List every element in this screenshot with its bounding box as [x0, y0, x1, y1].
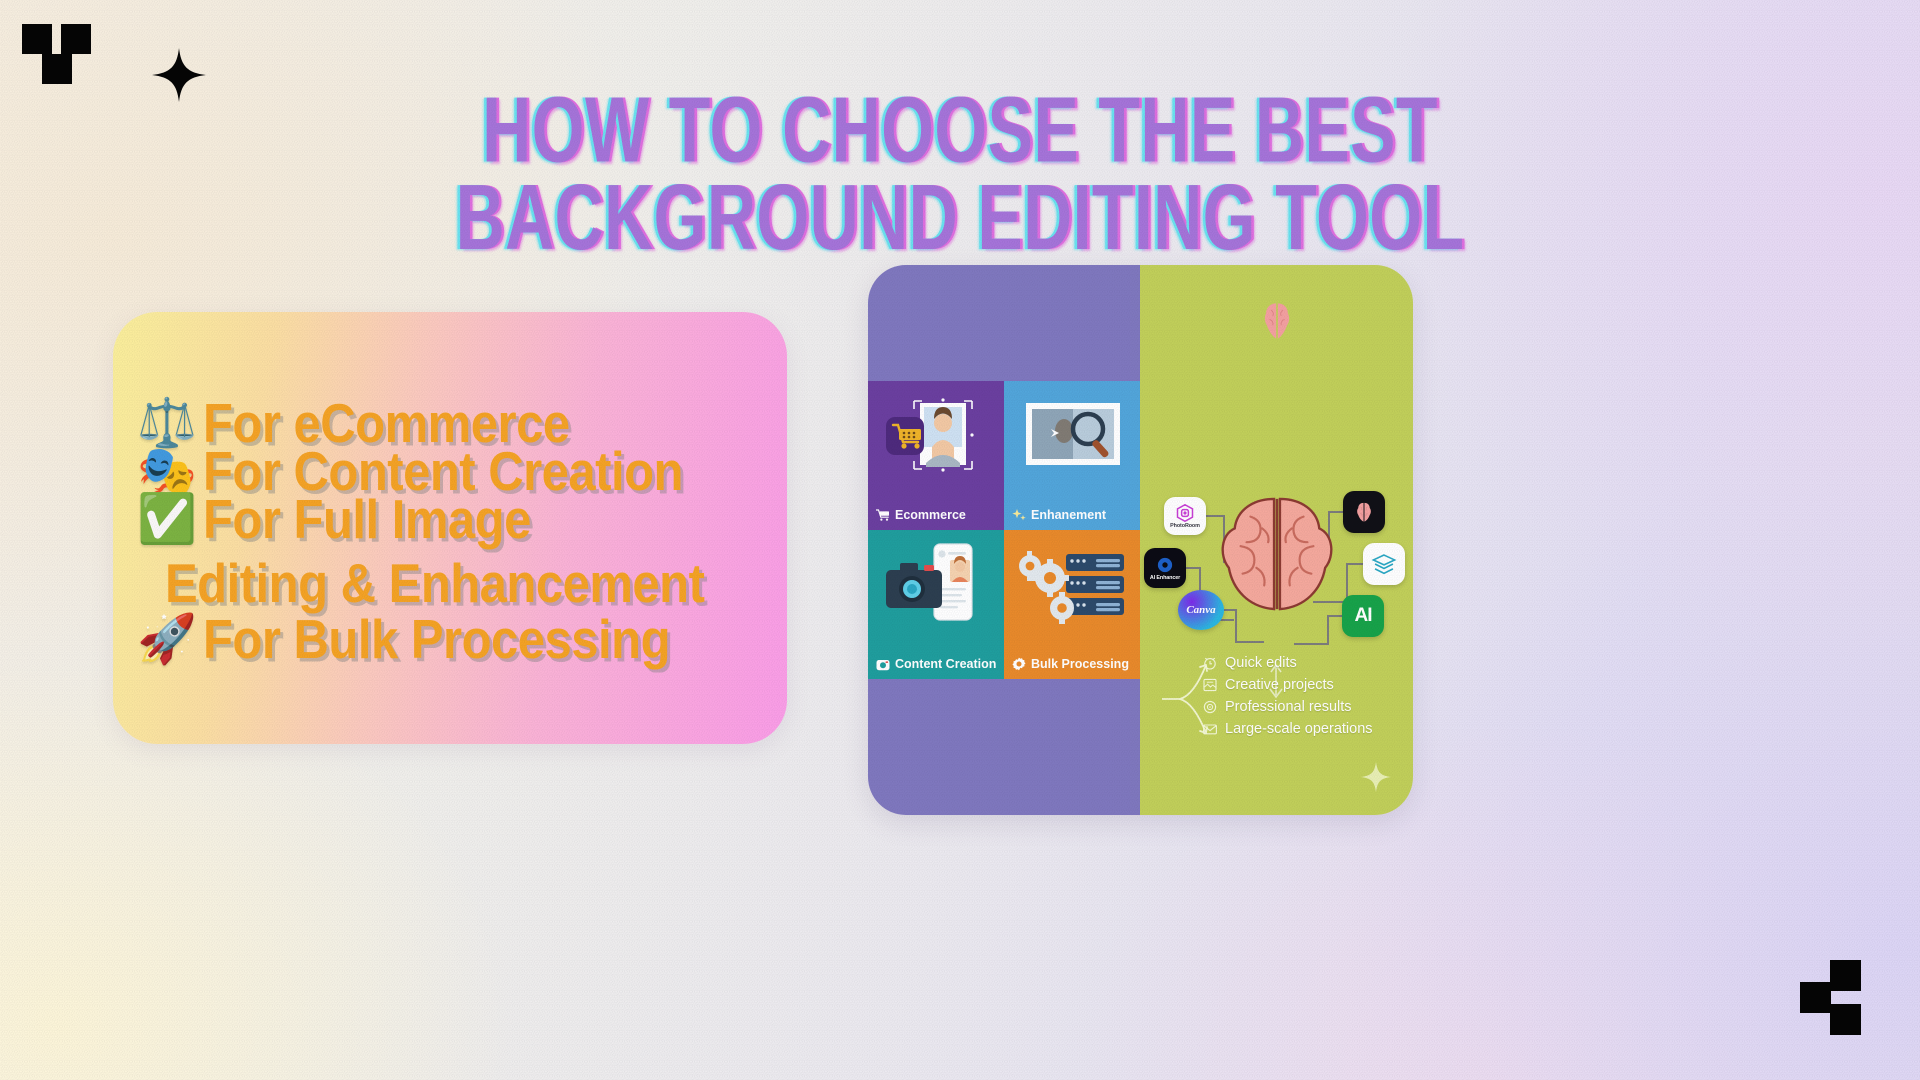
- quadrant-ecommerce[interactable]: Ecommerce: [868, 381, 1004, 530]
- target-icon: [1202, 699, 1218, 715]
- sparkles-icon: [1012, 509, 1026, 522]
- small-brain-icon: [1256, 300, 1298, 342]
- list-item-label: For Bulk Processing: [203, 609, 670, 672]
- title-line-2: BACKGROUND EDITING TOOL: [456, 164, 1465, 269]
- app-icon-label: PhotoRoom: [1170, 523, 1200, 529]
- quadrant-label-text: Enhanement: [1031, 508, 1106, 522]
- feature-item: Professional results: [1202, 699, 1373, 715]
- top-left-square-decoration: [22, 24, 92, 94]
- quadrant-label-ecommerce: Ecommerce: [876, 508, 1000, 522]
- bulk-processing-illustration: [1004, 538, 1140, 634]
- quadrant-label-content-creation: Content Creation: [876, 657, 1000, 671]
- rocket-emoji: 🚀: [137, 616, 195, 664]
- shopping-cart-icon: [876, 509, 890, 521]
- list-item-label: For Full Image: [203, 489, 531, 552]
- quadrant-label-text: Ecommerce: [895, 508, 966, 522]
- quadrant-bulk-processing[interactable]: Bulk Processing: [1004, 530, 1140, 679]
- app-icon-label: Canva: [1186, 604, 1215, 616]
- app-icon-label: AI Enhancer: [1150, 575, 1180, 581]
- feature-label: Quick edits: [1225, 655, 1297, 671]
- ecommerce-illustration: [868, 389, 1004, 485]
- feature-quadrant-grid: Ecommerce: [868, 381, 1140, 679]
- gear-icon: [1012, 657, 1026, 671]
- app-icon-canva[interactable]: Canva: [1178, 590, 1224, 630]
- feature-item: Quick edits: [1202, 655, 1373, 671]
- list-item-continuation: Editing & Enhancement: [137, 556, 757, 612]
- decoration-square: [22, 24, 52, 54]
- feature-label: Large-scale operations: [1225, 721, 1373, 737]
- ai-enhancer-logo-icon: [1156, 556, 1174, 574]
- decoration-square: [42, 54, 72, 84]
- app-icon-brain-app[interactable]: [1343, 491, 1385, 533]
- app-icon-label: AI: [1355, 605, 1372, 627]
- balance-scale-emoji: ⚖️: [137, 400, 195, 448]
- panel-left-purple-area: Ecommerce: [868, 265, 1140, 815]
- check-mark-button-emoji: ✅: [137, 496, 195, 544]
- quadrant-label-bulk-processing: Bulk Processing: [1012, 657, 1136, 671]
- photoroom-logo-icon: [1176, 504, 1194, 522]
- layers-icon: [1371, 551, 1397, 577]
- quadrant-label-text: Content Creation: [895, 657, 996, 671]
- panel-sparkle-icon: [1361, 761, 1391, 793]
- benefits-list-card: ⚖️ For eCommerce 🎭 For Content Creation …: [113, 312, 787, 744]
- brain-app-logo-icon: [1352, 500, 1376, 524]
- quadrant-label-text: Bulk Processing: [1031, 657, 1129, 671]
- brain-illustration: [1213, 495, 1341, 613]
- illustration-panel: Ecommerce: [868, 265, 1413, 815]
- content-creation-illustration: [868, 538, 1004, 634]
- feature-label: Creative projects: [1225, 677, 1334, 693]
- panel-right-green-area: PhotoRoom AI Enhancer Canva: [1140, 265, 1413, 815]
- picture-frame-icon: [1202, 677, 1218, 693]
- bottom-right-square-decoration: [1798, 960, 1864, 1028]
- alarm-clock-icon: [1202, 655, 1218, 671]
- app-icon-photoroom[interactable]: PhotoRoom: [1164, 497, 1206, 535]
- quadrant-label-enhanement: Enhanement: [1012, 508, 1136, 522]
- app-icon-ai-enhancer[interactable]: AI Enhancer: [1144, 548, 1186, 588]
- camera-icon: [876, 658, 890, 671]
- decoration-square: [1830, 960, 1861, 991]
- decoration-square: [1830, 1004, 1861, 1035]
- enhancement-illustration: [1004, 389, 1140, 485]
- list-item: 🚀 For Bulk Processing: [137, 612, 757, 668]
- page-title: HOW TO CHOOSE THE BEST BACKGROUND EDITIN…: [134, 86, 1785, 261]
- app-icon-adobe-illustrator[interactable]: AI: [1342, 595, 1384, 637]
- feature-item: Creative projects: [1202, 677, 1373, 693]
- decoration-square: [1800, 982, 1831, 1013]
- feature-item: Large-scale operations: [1202, 721, 1373, 737]
- feature-benefits-list: Quick edits Creative projects: [1202, 655, 1373, 737]
- envelope-icon: [1202, 721, 1218, 737]
- feature-label: Professional results: [1225, 699, 1352, 715]
- decoration-square: [61, 24, 91, 54]
- list-item-continuation-label: Editing & Enhancement: [165, 553, 704, 616]
- performing-arts-emoji: 🎭: [137, 448, 195, 496]
- slide-canvas: HOW TO CHOOSE THE BEST BACKGROUND EDITIN…: [0, 0, 1920, 1080]
- app-icon-layers[interactable]: [1363, 543, 1405, 585]
- quadrant-enhanement[interactable]: Enhanement: [1004, 381, 1140, 530]
- quadrant-content-creation[interactable]: Content Creation: [868, 530, 1004, 679]
